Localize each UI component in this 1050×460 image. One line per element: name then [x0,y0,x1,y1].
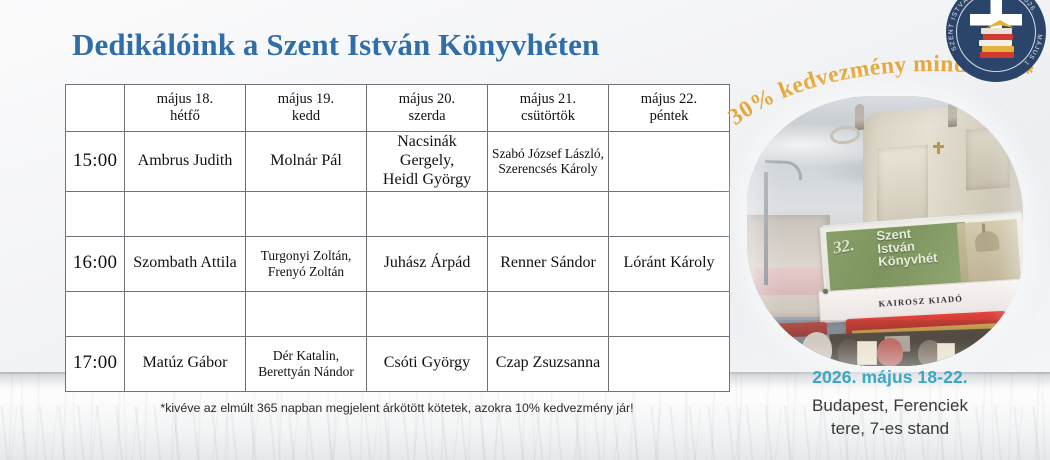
cell-1-3: Renner Sándor [488,236,609,291]
photo-person [802,332,832,366]
day-name-3: csütörtök [491,108,605,125]
address-line-2: tere, 7-es stand [730,417,1050,440]
cell-1-2: Juhász Árpád [367,236,488,291]
event-date: 2026. május 18-22. [730,367,1050,388]
photo-banner-line3: Könyvhét [877,252,937,270]
photo-streetlamp [764,172,768,286]
photo-person [877,338,903,366]
address-line-1: Budapest, Ferenciek [730,394,1050,417]
header-day-2: május 20. szerda [367,85,488,132]
spacer-cell [66,291,125,336]
header-day-3: május 21. csütörtök [488,85,609,132]
spacer-cell [125,291,246,336]
cell-2-3: Czap Zsuzsanna [488,336,609,391]
table-spacer-row [66,291,730,336]
table-row: 15:00 Ambrus Judith Molnár Pál Nacsinák … [66,132,730,192]
photo-statue-right [948,101,957,128]
spacer-cell [66,191,125,236]
day-date-2: május 20. [370,91,484,108]
cell-2-4 [609,336,730,391]
spacer-cell [609,191,730,236]
photo-facade-cross-icon [937,142,940,154]
photo-crowd [747,320,1023,366]
photo-price-card [937,343,955,365]
table-row: 17:00 Matúz Gábor Dér Katalin,Berettyán … [66,336,730,391]
cell-1-0: Szombath Attila [125,236,246,291]
photo-publisher-name: KAIROSZ KIADÓ [878,293,963,308]
day-date-4: május 22. [612,91,726,108]
poster-canvas: Dedikálóink a Szent István Könyvhéten má… [0,0,1050,460]
event-address: Budapest, Ferenciek tere, 7-es stand [730,394,1050,441]
spacer-cell [246,191,367,236]
day-name-4: péntek [612,108,726,125]
day-name-0: hétfő [128,108,242,125]
header-time-cell [66,85,125,132]
discount-footnote: *kivéve az elmúlt 365 napban megjelent á… [65,401,729,415]
photo-banner-title: Szent István Könyvhét [875,225,937,269]
spacer-cell [246,291,367,336]
day-name-2: szerda [370,108,484,125]
cell-1-1: Turgonyi Zoltán,Frenyó Zoltán [246,236,367,291]
day-date-0: május 18. [128,91,242,108]
table-spacer-row [66,191,730,236]
photo-side-building [747,215,830,318]
row-time-1: 16:00 [66,236,125,291]
day-date-3: május 21. [491,91,605,108]
spacer-cell [488,191,609,236]
day-date-1: május 19. [249,91,363,108]
cell-0-2: Nacsinák Gergely,Heidl György [367,132,488,192]
row-time-0: 15:00 [66,132,125,192]
cell-0-4 [609,132,730,192]
spacer-cell [125,191,246,236]
photo-price-card [857,341,877,365]
day-name-1: kedd [249,108,363,125]
photo-statue-left [855,104,864,131]
photo-banner-edition-number: 32. [831,235,855,258]
cell-2-1: Dér Katalin,Berettyán Nándor [246,336,367,391]
spacer-cell [488,291,609,336]
cell-2-0: Matúz Gábor [125,336,246,391]
photo-sign-fixture [823,289,828,294]
table-header-row: május 18. hétfő május 19. kedd május 20.… [66,85,730,132]
page-title: Dedikálóink a Szent István Könyvhéten [72,27,599,63]
cell-0-3: Szabó József László,Szerencsés Károly [488,132,609,192]
header-day-4: május 22. péntek [609,85,730,132]
signing-schedule-table: május 18. hétfő május 19. kedd május 20.… [65,84,730,392]
book-fair-photo: 32. Szent István Könyvhét KAIROSZ KIADÓ [747,96,1023,366]
cell-2-2: Csóti György [367,336,488,391]
table-row: 16:00 Szombath Attila Turgonyi Zoltán,Fr… [66,236,730,291]
photo-banner-dome-illustration [956,219,1020,284]
spacer-cell [367,291,488,336]
cell-0-1: Molnár Pál [246,132,367,192]
cell-1-4: Lóránt Károly [609,236,730,291]
cell-0-0: Ambrus Judith [125,132,246,192]
header-day-1: május 19. kedd [246,85,367,132]
spacer-cell [609,291,730,336]
szent-istvan-konyvhet-logo: SZENT ISTVÁN KÖNYVHÉT 2026. MÁJUS 18-22. [942,0,1050,86]
spacer-cell [367,191,488,236]
header-day-0: május 18. hétfő [125,85,246,132]
right-panel: 30% kedvezmény mindenre!* 32. Szent Istv… [730,0,1050,460]
row-time-2: 17:00 [66,336,125,391]
